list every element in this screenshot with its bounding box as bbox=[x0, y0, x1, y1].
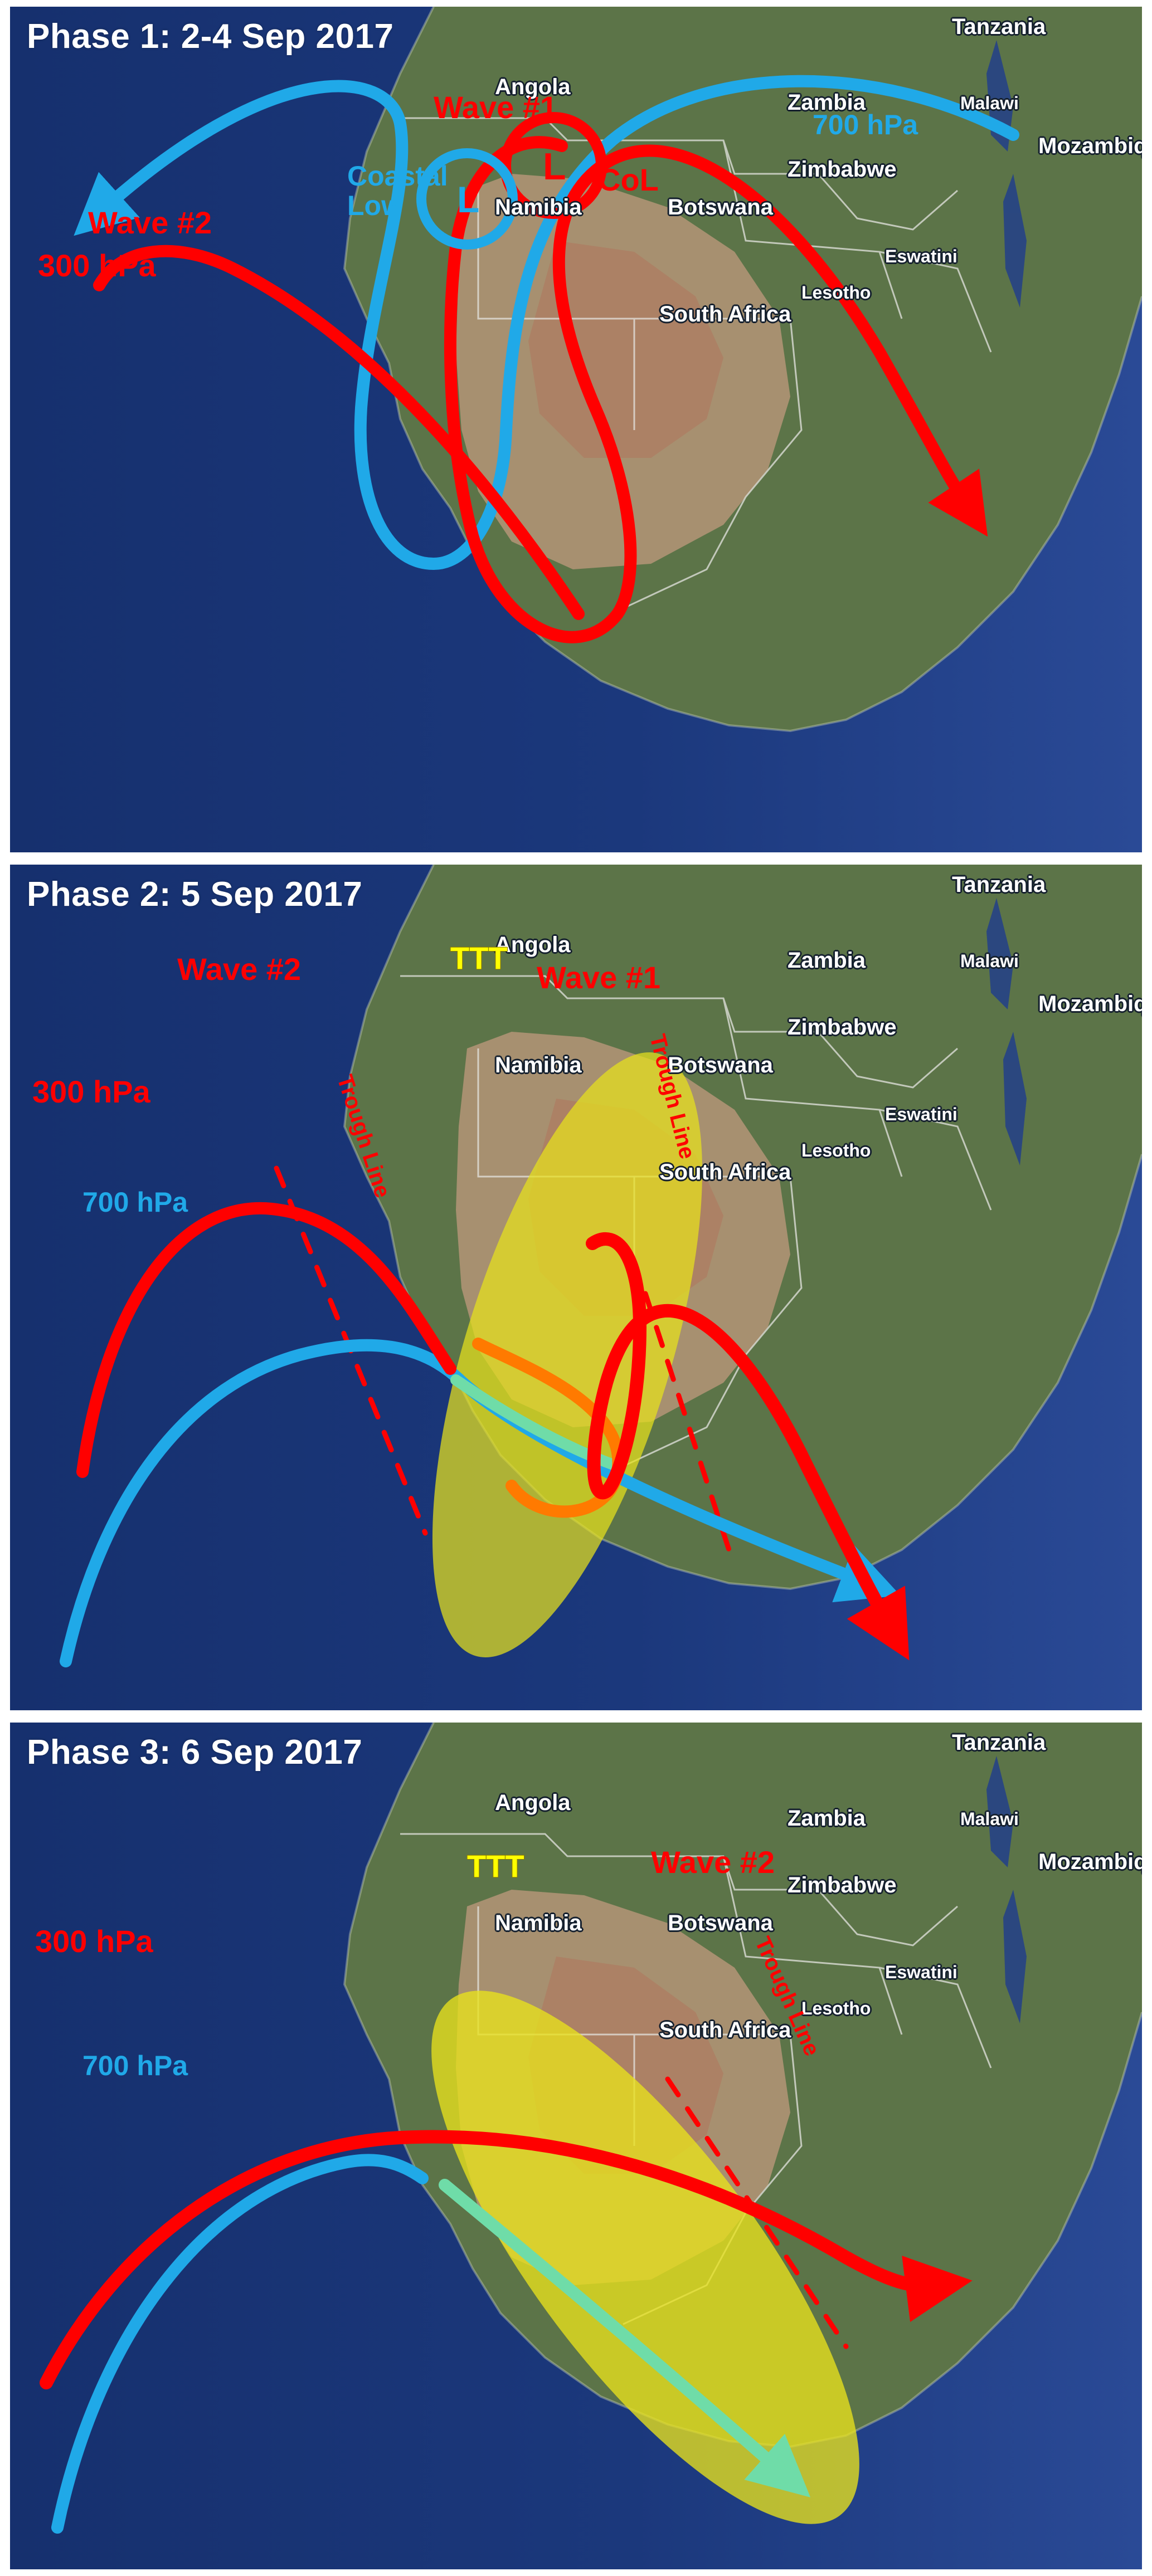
country-label-zimbabwe: Zimbabwe bbox=[788, 1015, 897, 1040]
ttt-label: TTT bbox=[450, 940, 508, 976]
country-label-south-africa: South Africa bbox=[659, 302, 791, 327]
country-label-tanzania: Tanzania bbox=[952, 1730, 1046, 1755]
wave-1-label: Wave #1 bbox=[537, 959, 660, 996]
country-label-mozambique: Mozambique bbox=[1038, 134, 1142, 159]
country-label-mozambique: Mozambique bbox=[1038, 1850, 1142, 1875]
country-label-botswana: Botswana bbox=[668, 1911, 773, 1936]
panel-title-phase-2: Phase 2: 5 Sep 2017 bbox=[27, 875, 362, 914]
country-label-south-africa: South Africa bbox=[659, 1160, 791, 1185]
pressure-label-700hpa: 700 hPa bbox=[82, 2051, 188, 2081]
country-label-malawi: Malawi bbox=[960, 1809, 1019, 1829]
country-label-zimbabwe: Zimbabwe bbox=[788, 1873, 897, 1898]
pressure-label-700hpa: 700 hPa bbox=[82, 1188, 188, 1217]
panel-phase-1: Phase 1: 2-4 Sep 2017 Tanzania Angola Za… bbox=[10, 7, 1142, 852]
pressure-label-300hpa: 300 hPa bbox=[32, 1074, 150, 1110]
country-label-tanzania: Tanzania bbox=[952, 14, 1046, 40]
country-label-namibia: Namibia bbox=[495, 1053, 582, 1078]
country-label-malawi: Malawi bbox=[960, 951, 1019, 972]
wave-2-label: Wave #2 bbox=[88, 204, 212, 241]
country-label-lesotho: Lesotho bbox=[801, 282, 871, 303]
country-label-mozambique: Mozambique bbox=[1038, 992, 1142, 1017]
coastal-low-label: Coastal Low bbox=[347, 162, 453, 220]
country-label-malawi: Malawi bbox=[960, 93, 1019, 114]
wave-1-label: Wave #1 bbox=[434, 89, 557, 125]
map-canvas-phase-3 bbox=[10, 1723, 1142, 2569]
ttt-label: TTT bbox=[467, 1848, 524, 1884]
wave-2-label: Wave #2 bbox=[177, 951, 301, 987]
country-label-zambia: Zambia bbox=[788, 1806, 866, 1831]
country-label-lesotho: Lesotho bbox=[801, 1998, 871, 2019]
pressure-label-700hpa: 700 hPa bbox=[813, 110, 918, 140]
country-label-lesotho: Lesotho bbox=[801, 1140, 871, 1161]
country-label-tanzania: Tanzania bbox=[952, 872, 1046, 897]
coastal-low-marker: L bbox=[457, 180, 479, 219]
col-label: CoL bbox=[598, 162, 659, 198]
panel-phase-2: Phase 2: 5 Sep 2017 Tanzania Angola Zamb… bbox=[10, 865, 1142, 1710]
country-label-namibia: Namibia bbox=[495, 1911, 582, 1936]
panel-title-phase-1: Phase 1: 2-4 Sep 2017 bbox=[27, 17, 393, 56]
country-label-zambia: Zambia bbox=[788, 948, 866, 973]
figure-page: Phase 1: 2-4 Sep 2017 Tanzania Angola Za… bbox=[0, 0, 1152, 2576]
country-label-eswatini: Eswatini bbox=[885, 1104, 957, 1125]
country-label-botswana: Botswana bbox=[668, 1053, 773, 1078]
panel-title-phase-3: Phase 3: 6 Sep 2017 bbox=[27, 1733, 362, 1772]
country-label-eswatini: Eswatini bbox=[885, 1962, 957, 1983]
map-canvas-phase-1 bbox=[10, 7, 1142, 852]
pressure-label-300hpa: 300 hPa bbox=[35, 1923, 153, 1959]
country-label-angola: Angola bbox=[495, 1790, 571, 1816]
country-label-namibia: Namibia bbox=[495, 195, 582, 220]
wave-2-label: Wave #2 bbox=[651, 1844, 775, 1880]
country-label-botswana: Botswana bbox=[668, 195, 773, 220]
panel-phase-3: Phase 3: 6 Sep 2017 Tanzania Angola Zamb… bbox=[10, 1723, 1142, 2569]
col-low-marker: L bbox=[543, 145, 566, 188]
pressure-label-300hpa: 300 hPa bbox=[38, 247, 156, 284]
country-label-south-africa: South Africa bbox=[659, 2018, 791, 2043]
country-label-zimbabwe: Zimbabwe bbox=[788, 157, 897, 182]
country-label-eswatini: Eswatini bbox=[885, 246, 957, 267]
